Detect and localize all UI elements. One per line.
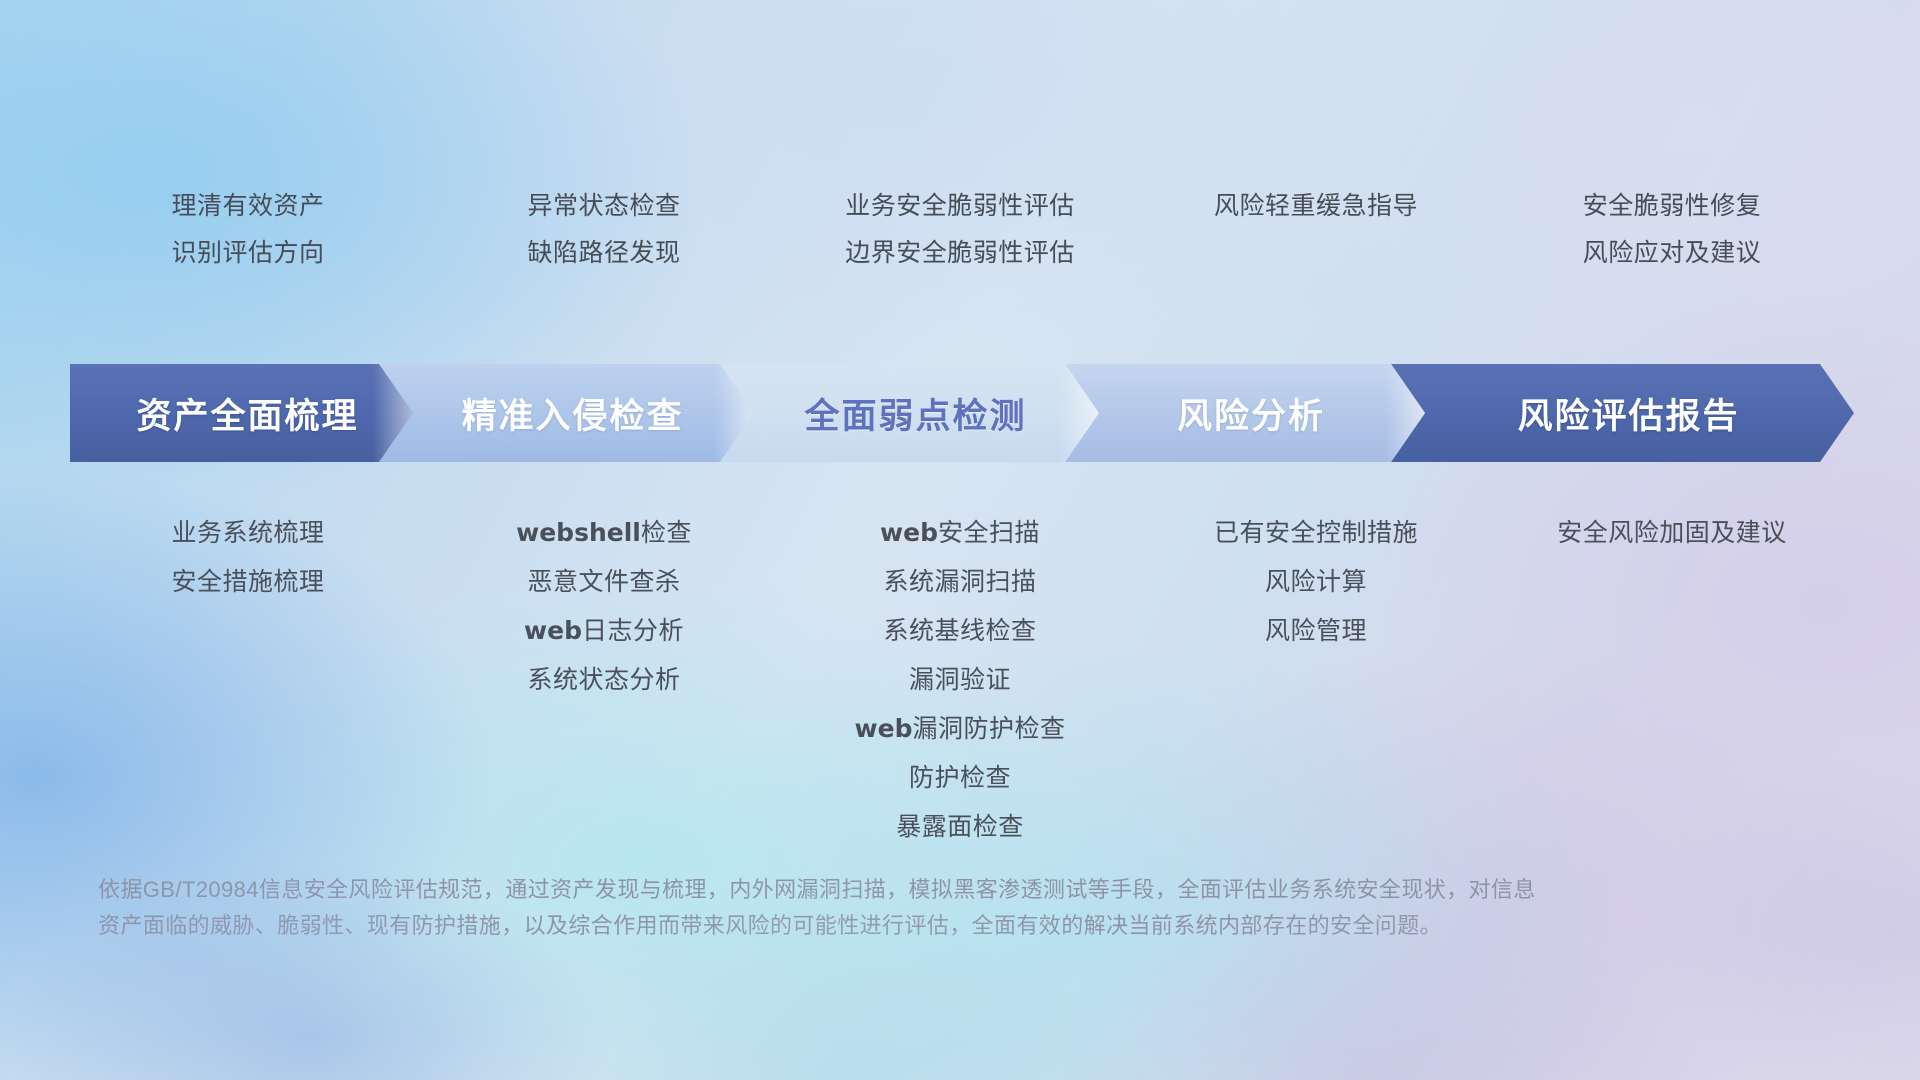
top-labels-stage-3: 业务安全脆弱性评估 边界安全脆弱性评估: [782, 186, 1138, 273]
bottom-label-latin: web: [524, 616, 582, 645]
bottom-label-item: 风险管理: [1138, 611, 1494, 651]
bottom-label-text: 系统漏洞扫描: [883, 568, 1036, 596]
top-label-item: 缺陷路径发现: [426, 233, 782, 273]
bottom-label-text: 已有安全控制措施: [1214, 519, 1418, 547]
bottom-label-item: 漏洞验证: [782, 660, 1138, 700]
bottom-labels-stage-5: 安全风险加固及建议: [1494, 513, 1850, 847]
bottom-label-item: 系统状态分析: [426, 660, 782, 700]
bottom-label-item: web安全扫描: [782, 513, 1138, 553]
bottom-label-text: 业务系统梳理: [171, 519, 324, 547]
top-label-item: 理清有效资产: [70, 186, 426, 226]
bottom-label-item: 安全风险加固及建议: [1494, 513, 1850, 553]
top-label-row: 理清有效资产 识别评估方向 异常状态检查 缺陷路径发现 业务安全脆弱性评估 边界…: [70, 186, 1850, 273]
bottom-labels-stage-3: web安全扫描系统漏洞扫描系统基线检查漏洞验证web漏洞防护检查防护检查暴露面检…: [782, 513, 1138, 847]
bottom-label-text: 检查: [641, 519, 692, 547]
bottom-label-text: 漏洞验证: [909, 666, 1011, 694]
top-labels-stage-2: 异常状态检查 缺陷路径发现: [426, 186, 782, 273]
process-chevron-banner: 资产全面梳理 精准入侵检查 全面弱点检测 风险分析 风险评估报告: [70, 364, 1854, 462]
bottom-label-item: 恶意文件查杀: [426, 562, 782, 602]
chevron-label: 精准入侵检查: [449, 388, 683, 439]
footer-line-2: 资产面临的威胁、脆弱性、现有防护措施，以及综合作用而带来风险的可能性进行评估，全…: [98, 908, 1658, 944]
top-labels-stage-5: 安全脆弱性修复 风险应对及建议: [1494, 186, 1850, 273]
bottom-label-item: web日志分析: [426, 611, 782, 651]
bottom-label-text: 风险计算: [1265, 568, 1367, 596]
chevron-label: 风险分析: [1165, 388, 1325, 439]
bottom-label-text: 恶意文件查杀: [527, 568, 680, 596]
bottom-labels-stage-4: 已有安全控制措施风险计算风险管理: [1138, 513, 1494, 847]
chevron-label: 风险评估报告: [1505, 388, 1739, 439]
bottom-label-item: webshell检查: [426, 513, 782, 553]
bottom-label-text: 风险管理: [1265, 617, 1367, 645]
bottom-label-item: 系统基线检查: [782, 611, 1138, 651]
bottom-label-row: 业务系统梳理安全措施梳理 webshell检查恶意文件查杀web日志分析系统状态…: [70, 513, 1850, 847]
bottom-label-item: 暴露面检查: [782, 807, 1138, 847]
top-label-item: 异常状态检查: [426, 186, 782, 226]
top-label-item: 边界安全脆弱性评估: [782, 233, 1138, 273]
bottom-label-text: 系统基线检查: [883, 617, 1036, 645]
chevron-stage-2[interactable]: 精准入侵检查: [379, 364, 754, 462]
top-labels-stage-4: 风险轻重缓急指导: [1138, 186, 1494, 273]
diagram-canvas: 理清有效资产 识别评估方向 异常状态检查 缺陷路径发现 业务安全脆弱性评估 边界…: [0, 0, 1920, 1080]
chevron-stage-4[interactable]: 风险分析: [1065, 364, 1425, 462]
bottom-label-latin: webshell: [516, 518, 641, 547]
bottom-label-item: 系统漏洞扫描: [782, 562, 1138, 602]
footer-description: 依据GB/T20984信息安全风险评估规范，通过资产发现与梳理，内外网漏洞扫描，…: [98, 872, 1658, 944]
chevron-label: 全面弱点检测: [792, 388, 1026, 439]
bottom-label-text: 漏洞防护检查: [912, 715, 1065, 743]
top-label-item: 识别评估方向: [70, 233, 426, 273]
bottom-label-item: web漏洞防护检查: [782, 709, 1138, 749]
bottom-label-text: 防护检查: [909, 764, 1011, 792]
chevron-stage-1[interactable]: 资产全面梳理: [70, 364, 413, 462]
bottom-label-text: 暴露面检查: [896, 813, 1024, 841]
top-labels-stage-1: 理清有效资产 识别评估方向: [70, 186, 426, 273]
bottom-labels-stage-2: webshell检查恶意文件查杀web日志分析系统状态分析: [426, 513, 782, 847]
bottom-label-text: 安全风险加固及建议: [1557, 519, 1787, 547]
top-label-item: 风险轻重缓急指导: [1138, 186, 1494, 226]
top-label-item: 风险应对及建议: [1494, 233, 1850, 273]
bottom-label-item: 安全措施梳理: [70, 562, 426, 602]
bottom-label-text: 系统状态分析: [527, 666, 680, 694]
bottom-label-item: 防护检查: [782, 758, 1138, 798]
bottom-labels-stage-1: 业务系统梳理安全措施梳理: [70, 513, 426, 847]
top-label-item: 安全脆弱性修复: [1494, 186, 1850, 226]
bottom-label-item: 已有安全控制措施: [1138, 513, 1494, 553]
top-label-item: 业务安全脆弱性评估: [782, 186, 1138, 226]
bottom-label-text: 安全扫描: [938, 519, 1040, 547]
chevron-stage-5[interactable]: 风险评估报告: [1391, 364, 1854, 462]
bottom-label-latin: web: [855, 714, 913, 743]
footer-line-1: 依据GB/T20984信息安全风险评估规范，通过资产发现与梳理，内外网漏洞扫描，…: [98, 872, 1658, 908]
bottom-label-item: 风险计算: [1138, 562, 1494, 602]
bottom-label-item: 业务系统梳理: [70, 513, 426, 553]
bottom-label-text: 安全措施梳理: [171, 568, 324, 596]
chevron-stage-3[interactable]: 全面弱点检测: [720, 364, 1099, 462]
bottom-label-text: 日志分析: [582, 617, 684, 645]
chevron-label: 资产全面梳理: [124, 388, 358, 439]
bottom-label-latin: web: [880, 518, 938, 547]
